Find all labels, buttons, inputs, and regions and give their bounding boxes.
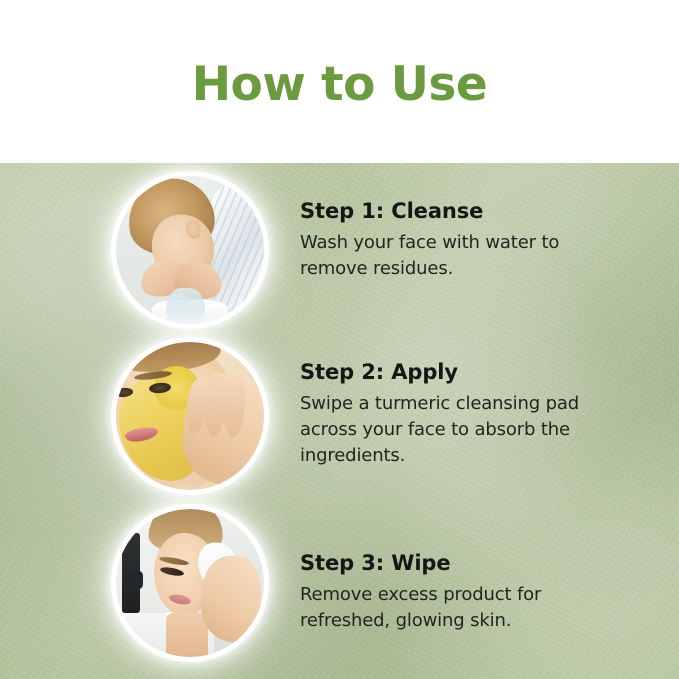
water-splash-shape	[166, 288, 204, 324]
steps-panel: Step 1: Cleanse Wash your face with wate…	[0, 163, 679, 679]
dark-knob-shape	[129, 571, 142, 589]
step-2-body: Swipe a turmeric cleansing pad across yo…	[300, 391, 630, 469]
step-2-image-circle	[116, 342, 264, 490]
woman-applying-turmeric-mask-image	[116, 342, 264, 490]
step-2-text: Step 2: Apply Swipe a turmeric cleansing…	[300, 360, 630, 469]
step-2-heading: Step 2: Apply	[300, 360, 630, 384]
step-1-heading: Step 1: Cleanse	[300, 199, 630, 223]
neck-shape	[166, 613, 207, 657]
woman-wiping-face-with-pad-image	[116, 509, 264, 657]
header-band: How to Use	[0, 0, 679, 163]
step-3-text: Step 3: Wipe Remove excess product for r…	[300, 551, 630, 634]
step-1-image-circle	[116, 176, 264, 324]
woman-washing-face-with-water-image	[116, 176, 264, 324]
step-3-body: Remove excess product for refreshed, glo…	[300, 582, 630, 634]
step-3-image-circle	[116, 509, 264, 657]
step-1-body: Wash your face with water to remove resi…	[300, 230, 630, 282]
step-3-heading: Step 3: Wipe	[300, 551, 630, 575]
how-to-use-infographic: How to Use Step 1: Cleanse Wash	[0, 0, 679, 679]
page-title: How to Use	[192, 61, 488, 108]
step-1-text: Step 1: Cleanse Wash your face with wate…	[300, 199, 630, 282]
